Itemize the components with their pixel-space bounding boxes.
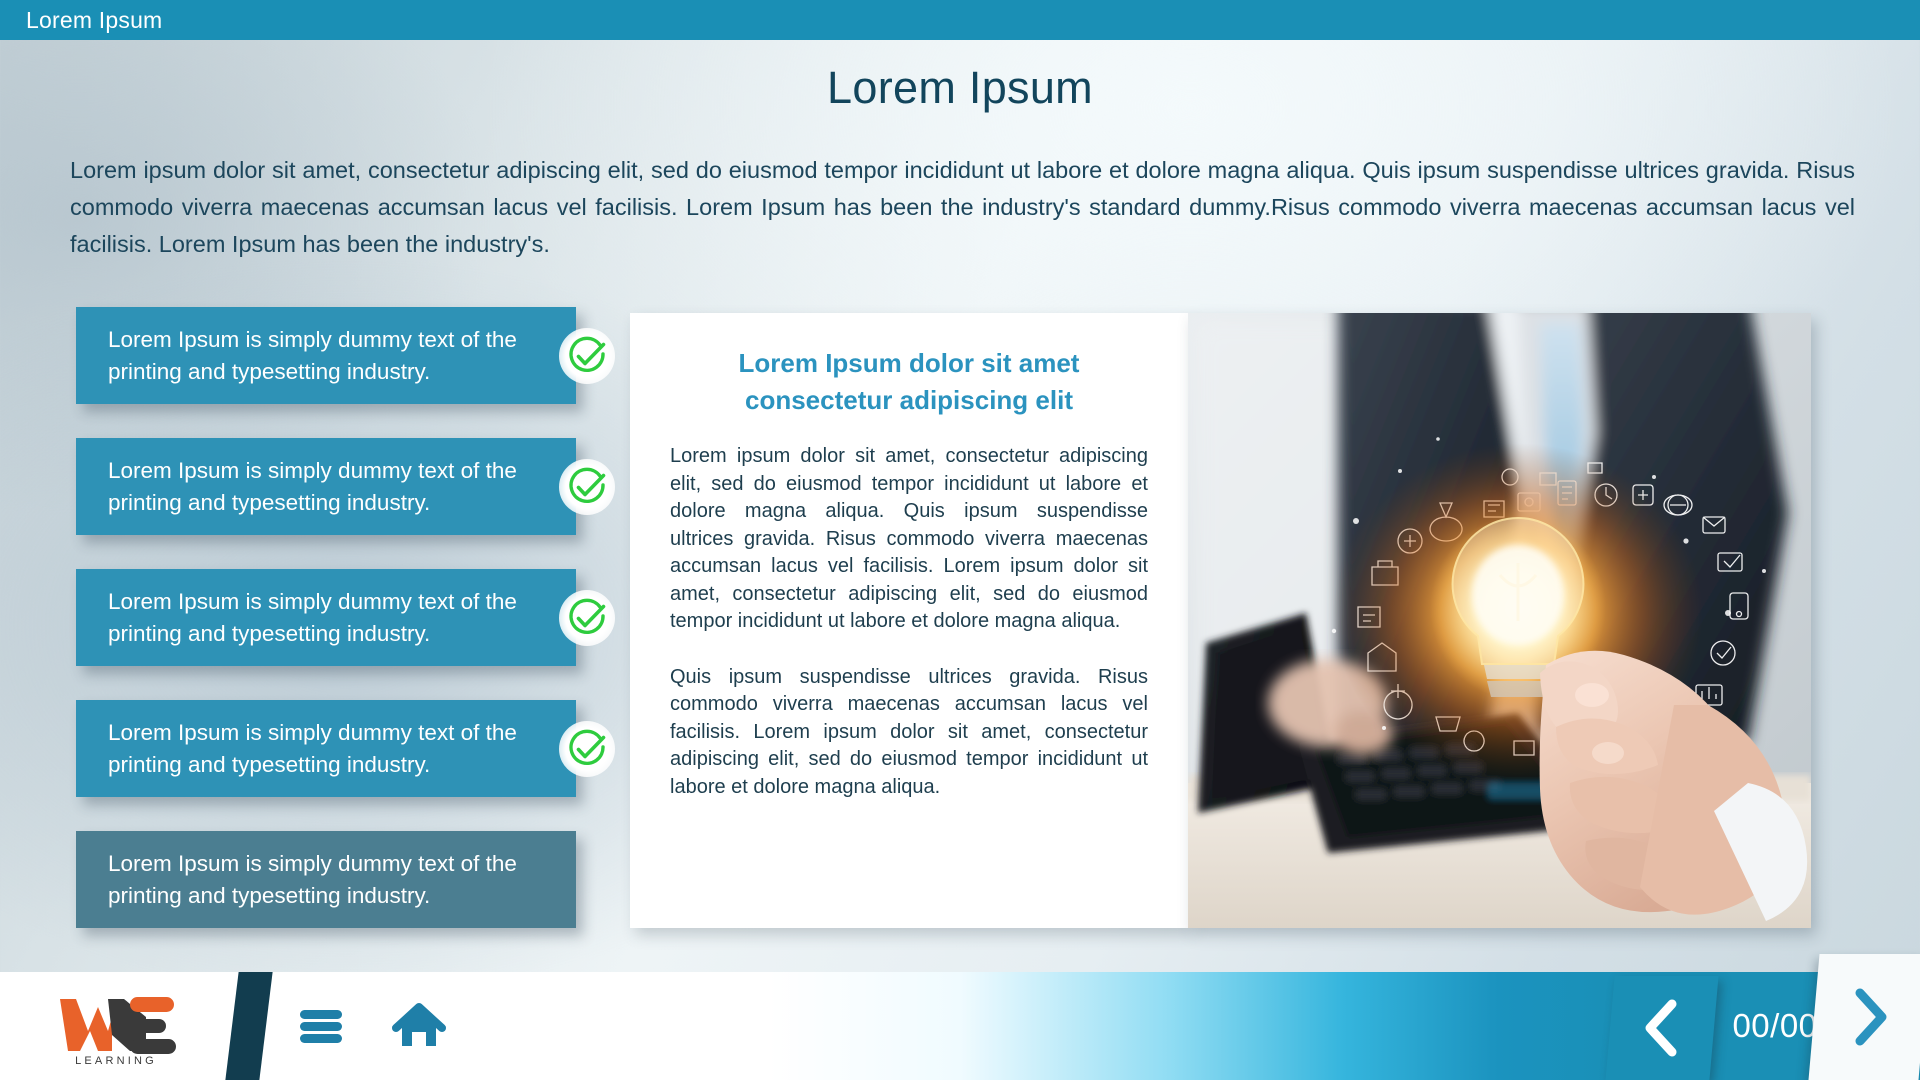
chevron-right-icon xyxy=(1849,988,1889,1046)
card-paragraph-1: Lorem ipsum dolor sit amet, consectetur … xyxy=(670,443,1148,636)
bottom-bar-icons xyxy=(286,972,446,1080)
chevron-left-icon xyxy=(1642,999,1682,1057)
check-circle-icon xyxy=(559,328,615,384)
list-item[interactable]: Lorem Ipsum is simply dummy text of the … xyxy=(76,569,576,666)
list-item[interactable]: Lorem Ipsum is simply dummy text of the … xyxy=(76,438,576,535)
list-item[interactable]: Lorem Ipsum is simply dummy text of the … xyxy=(76,831,576,928)
card-paragraph-2: Quis ipsum suspendisse ultrices gravida.… xyxy=(670,664,1148,802)
list-item-label: Lorem Ipsum is simply dummy text of the … xyxy=(76,324,576,388)
card-heading-line1: Lorem Ipsum dolor sit amet xyxy=(739,348,1080,378)
list-item-label: Lorem Ipsum is simply dummy text of the … xyxy=(76,717,576,781)
page-title: Lorem Ipsum xyxy=(0,62,1920,114)
check-circle-icon xyxy=(559,459,615,515)
check-circle-icon xyxy=(559,721,615,777)
intro-paragraph: Lorem ipsum dolor sit amet, consectetur … xyxy=(70,152,1855,263)
bottom-navigation-bar: LEARNING 00/00 xyxy=(0,972,1920,1080)
home-icon[interactable] xyxy=(392,1002,446,1050)
card-heading: Lorem Ipsum dolor sit amet consectetur a… xyxy=(670,345,1148,419)
we-learning-logo-icon: LEARNING xyxy=(50,987,182,1065)
illustration-photo xyxy=(1188,313,1811,928)
top-bar: Lorem Ipsum xyxy=(0,0,1920,40)
list-item[interactable]: Lorem Ipsum is simply dummy text of the … xyxy=(76,700,576,797)
list-item-label: Lorem Ipsum is simply dummy text of the … xyxy=(76,586,576,650)
hamburger-menu-icon[interactable] xyxy=(298,1007,344,1045)
check-circle-icon xyxy=(559,590,615,646)
svg-text:LEARNING: LEARNING xyxy=(75,1055,157,1065)
card-heading-line2: consectetur adipiscing elit xyxy=(745,385,1073,415)
feature-list: Lorem Ipsum is simply dummy text of the … xyxy=(76,307,596,962)
next-button[interactable] xyxy=(1808,954,1920,1080)
top-bar-title: Lorem Ipsum xyxy=(0,9,162,32)
content-card: Lorem Ipsum dolor sit amet consectetur a… xyxy=(630,313,1188,928)
list-item-label: Lorem Ipsum is simply dummy text of the … xyxy=(76,848,576,912)
list-item-label: Lorem Ipsum is simply dummy text of the … xyxy=(76,455,576,519)
list-item[interactable]: Lorem Ipsum is simply dummy text of the … xyxy=(76,307,576,404)
brand-logo: LEARNING xyxy=(0,972,232,1080)
previous-button[interactable] xyxy=(1605,976,1718,1080)
